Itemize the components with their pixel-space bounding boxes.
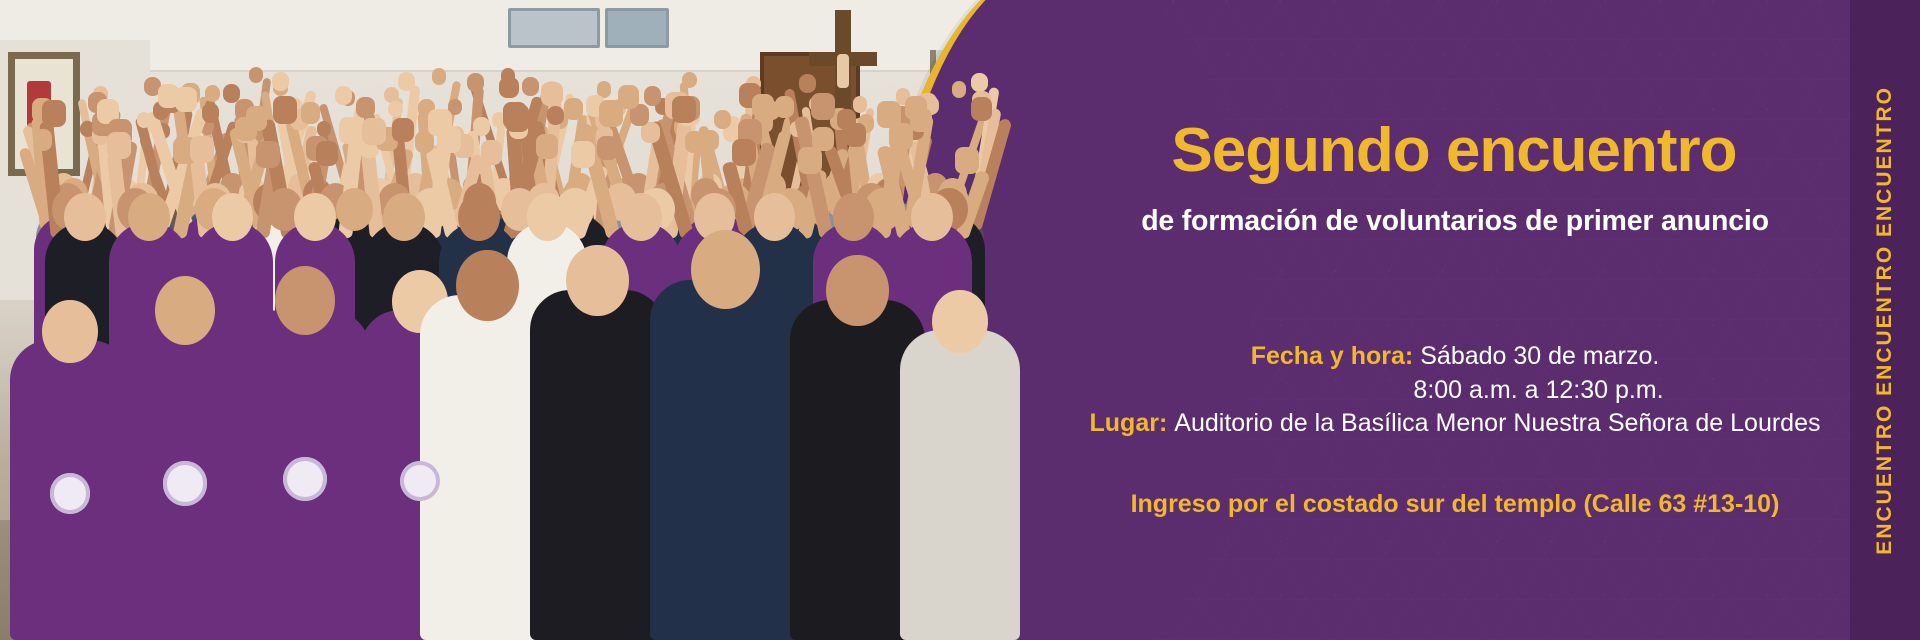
entrance-note: Ingreso por el costado sur del templo (C…	[1060, 490, 1850, 519]
detail-row-date: Fecha y hora: Sábado 30 de marzo.	[1060, 340, 1850, 374]
subtitle: de formación de voluntarios de primer an…	[1060, 205, 1850, 238]
crowd-of-people	[0, 40, 1040, 640]
page-title: Segundo encuentro	[1074, 120, 1834, 182]
group-photo: Bautizados y enviados	[0, 0, 1040, 640]
event-info: Segundo encuentro de formación de volunt…	[1060, 0, 1850, 640]
detail-label-place: Lugar:	[1090, 407, 1168, 441]
side-strip-text: ENCUENTRO ENCUENTRO ENCUENTRO	[1873, 86, 1897, 555]
event-banner: Bautizados y enviados Segundo encuentro …	[0, 0, 1920, 640]
detail-row-time: 8:00 a.m. a 12:30 p.m.	[1060, 374, 1850, 408]
detail-value-place: Auditorio de la Basílica Menor Nuestra S…	[1174, 407, 1820, 441]
detail-value-date: Sábado 30 de marzo.	[1420, 340, 1659, 374]
detail-row-place: Lugar: Auditorio de la Basílica Menor Nu…	[1060, 407, 1850, 441]
detail-label-date: Fecha y hora:	[1251, 340, 1414, 374]
side-strip: ENCUENTRO ENCUENTRO ENCUENTRO	[1850, 0, 1920, 640]
details-block: Fecha y hora: Sábado 30 de marzo. 8:00 a…	[1060, 340, 1850, 441]
detail-value-time: 8:00 a.m. a 12:30 p.m.	[1413, 374, 1663, 408]
